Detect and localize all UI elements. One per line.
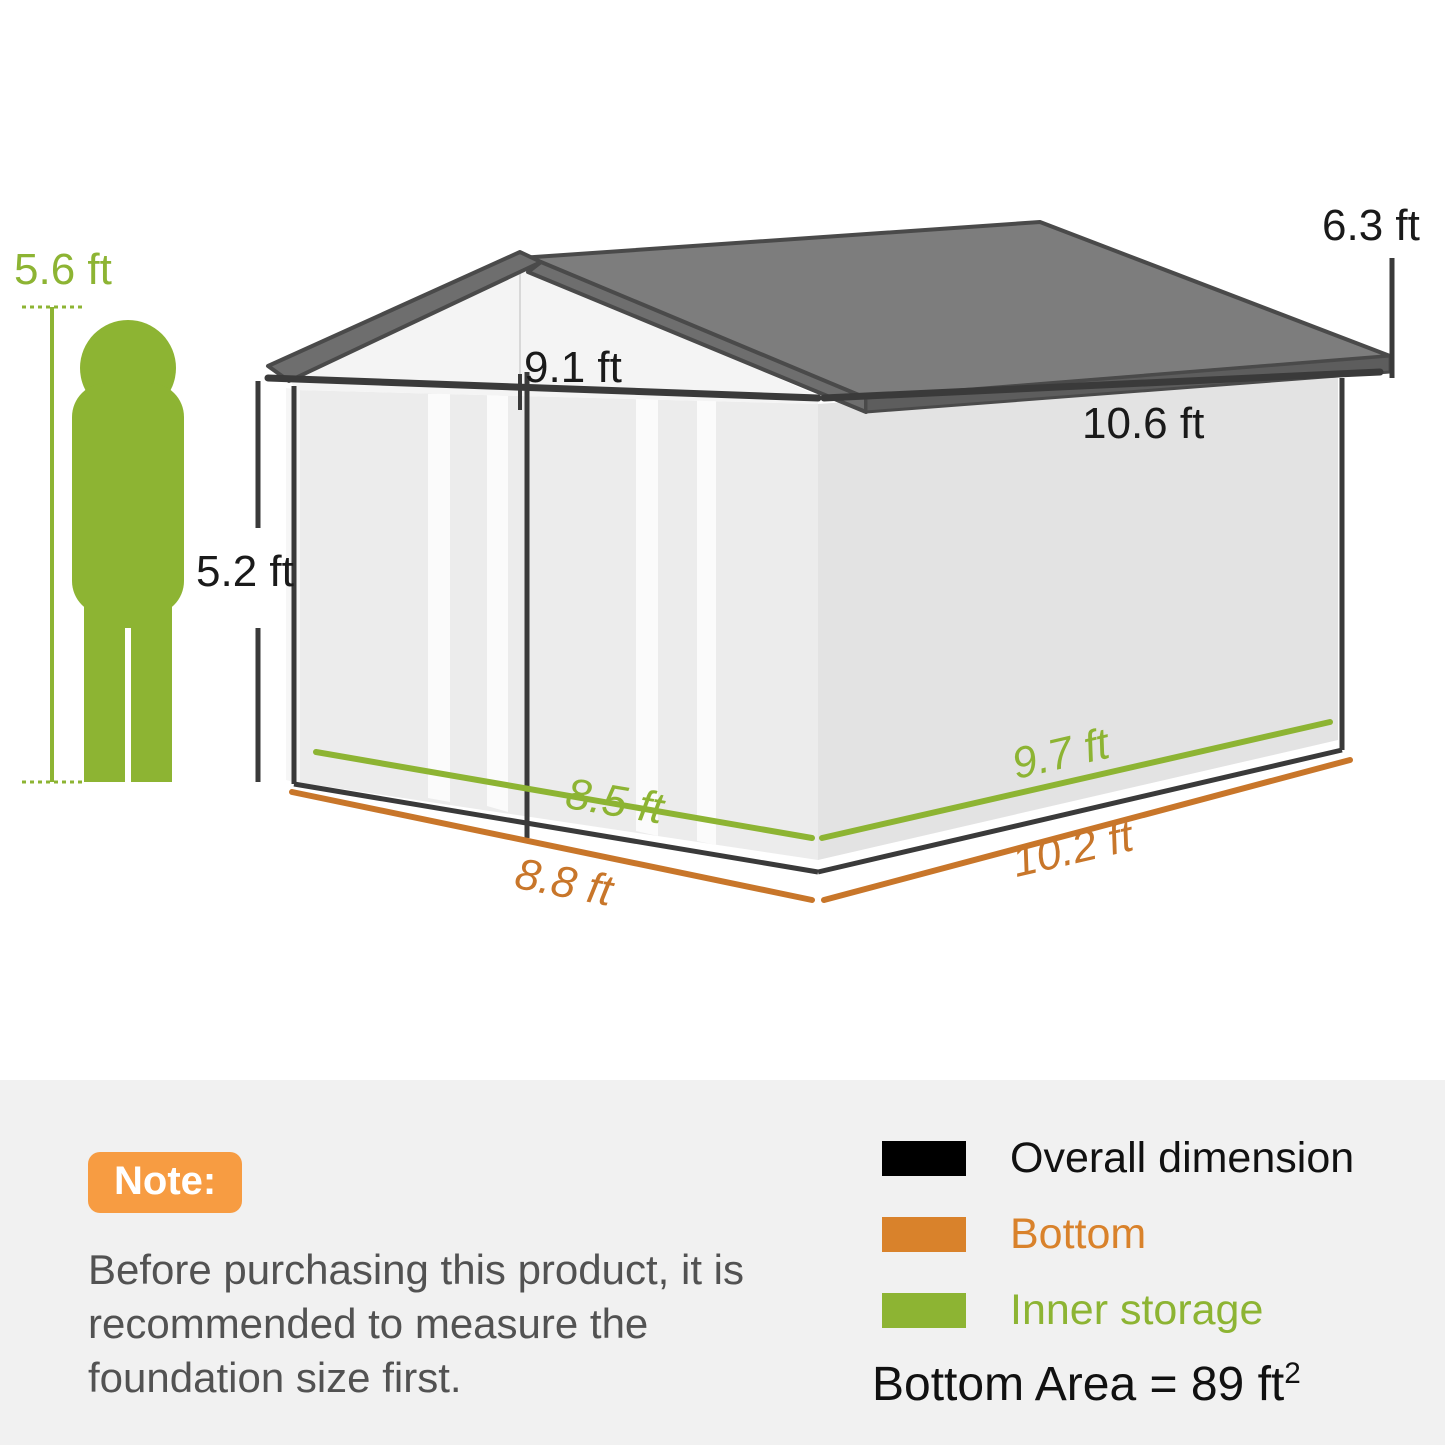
person-silhouette [72, 320, 184, 782]
legend-item-bottom: Bottom [882, 1196, 1402, 1272]
peak-height-label: 6.3 ft [1322, 204, 1420, 248]
legend-label-bottom: Bottom [1010, 1213, 1146, 1256]
bottom-area-text: Bottom Area = 89 ft2 [872, 1357, 1301, 1412]
shed-front-wall [296, 390, 818, 860]
bottom-area-value: Bottom Area = 89 ft [872, 1358, 1284, 1411]
side-length-label: 10.6 ft [1082, 402, 1204, 446]
footer-panel: Note: Before purchasing this product, it… [0, 1080, 1445, 1445]
wall-height-label: 5.2 ft [196, 550, 294, 594]
product-dimension-diagram: { "diagram": { "person": { "height_label… [0, 0, 1445, 1445]
note-badge: Note: [88, 1152, 242, 1213]
legend-item-inner-storage: Inner storage [882, 1272, 1402, 1348]
note-body-text: Before purchasing this product, it is re… [88, 1243, 748, 1404]
legend-swatch-overall-dimension [882, 1141, 966, 1176]
legend-swatch-bottom [882, 1217, 966, 1252]
legend-swatch-inner-storage [882, 1293, 966, 1328]
person-height-label: 5.6 ft [14, 248, 112, 292]
legend-item-overall-dimension: Overall dimension [882, 1120, 1402, 1196]
legend-label-inner-storage: Inner storage [1010, 1289, 1263, 1332]
gable-width-label: 9.1 ft [524, 346, 622, 390]
shed-illustration: 5.6 ft 5.2 ft 9.1 ft 6.3 ft 10.6 ft 8.5 … [0, 0, 1445, 1080]
legend: Overall dimension Bottom Inner storage [882, 1120, 1402, 1348]
note-block: Note: Before purchasing this product, it… [88, 1152, 788, 1404]
bottom-area-superscript: 2 [1284, 1357, 1301, 1390]
legend-label-overall-dimension: Overall dimension [1010, 1137, 1354, 1180]
shed-drawing [0, 0, 1445, 1080]
